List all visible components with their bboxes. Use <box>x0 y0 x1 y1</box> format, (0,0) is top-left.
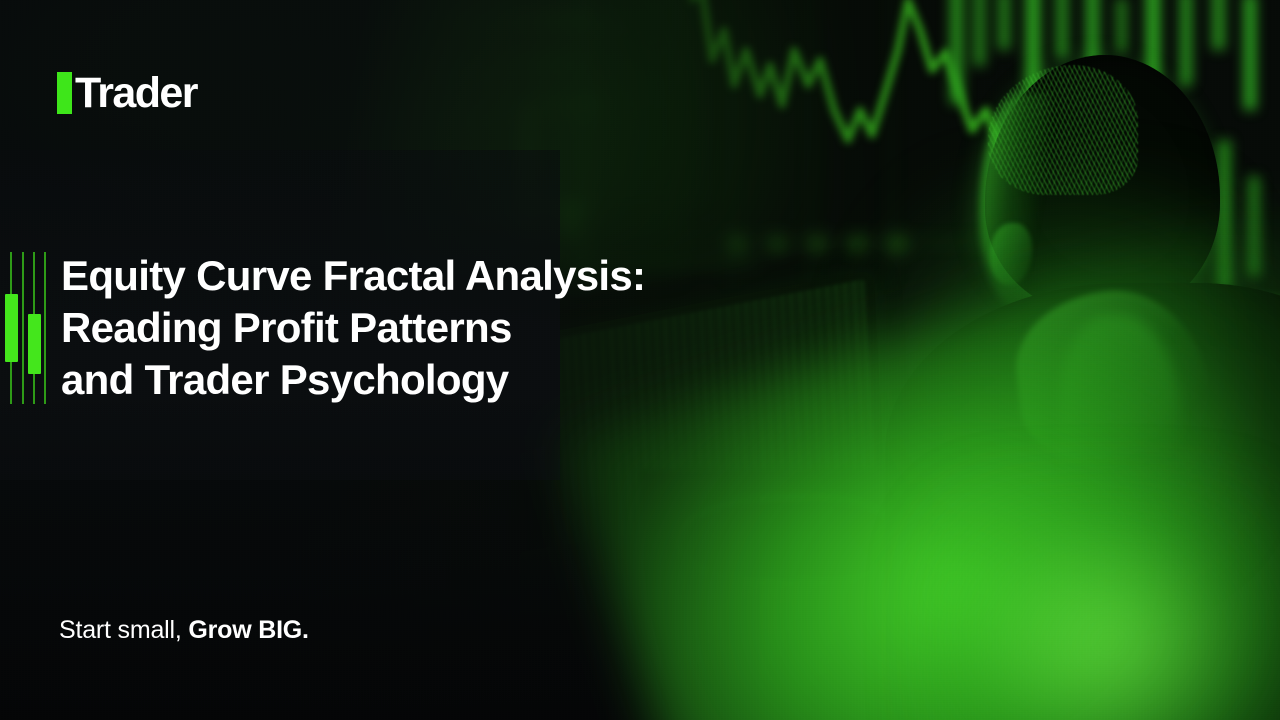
logo-wordmark: Trader <box>75 73 197 114</box>
tagline-light: Start small, <box>59 616 182 644</box>
brand-tagline: Start small, Grow BIG. <box>59 616 309 645</box>
title-line-1: Equity Curve Fractal Analysis: <box>61 250 761 302</box>
blog-banner: Trader Equity Curve Fractal Analysis: Re… <box>0 0 1280 720</box>
page-title: Equity Curve Fractal Analysis: Reading P… <box>61 250 761 406</box>
title-line-3: and Trader Psychology <box>61 354 761 406</box>
title-line-2: Reading Profit Patterns <box>61 302 761 354</box>
logo-accent-bar-icon <box>57 72 72 114</box>
tagline-bold: Grow BIG. <box>188 616 308 644</box>
banner-content: Trader Equity Curve Fractal Analysis: Re… <box>0 0 1280 720</box>
brand-logo[interactable]: Trader <box>57 66 197 114</box>
candlestick-accent-icon <box>8 252 50 404</box>
